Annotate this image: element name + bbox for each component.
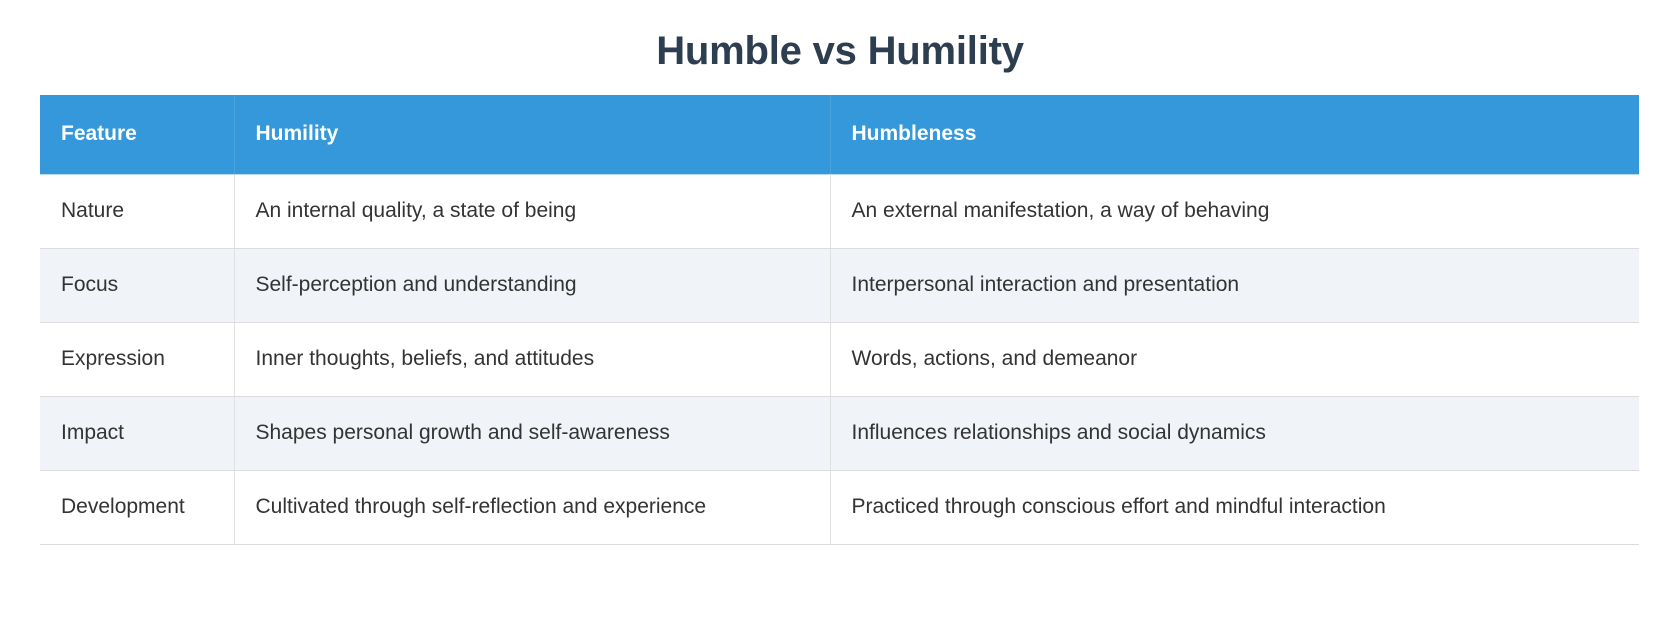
comparison-table: Feature Humility Humbleness Nature An in… — [40, 95, 1639, 545]
column-header-humility[interactable]: Humility — [234, 95, 830, 174]
cell-humbleness: Interpersonal interaction and presentati… — [830, 248, 1639, 322]
page-title: Humble vs Humility — [0, 0, 1680, 74]
cell-feature: Focus — [40, 248, 234, 322]
cell-humility: Shapes personal growth and self-awarenes… — [234, 396, 830, 470]
cell-humbleness: An external manifestation, a way of beha… — [830, 174, 1639, 248]
cell-feature: Development — [40, 470, 234, 544]
cell-feature: Expression — [40, 322, 234, 396]
cell-humility: Cultivated through self-reflection and e… — [234, 470, 830, 544]
page-root: Humble vs Humility Feature Humility Humb… — [0, 0, 1680, 626]
table-body: Nature An internal quality, a state of b… — [40, 174, 1639, 544]
cell-humility: An internal quality, a state of being — [234, 174, 830, 248]
table-row: Impact Shapes personal growth and self-a… — [40, 396, 1639, 470]
table-row: Nature An internal quality, a state of b… — [40, 174, 1639, 248]
cell-humbleness: Practiced through conscious effort and m… — [830, 470, 1639, 544]
column-header-feature[interactable]: Feature — [40, 95, 234, 174]
cell-humility: Inner thoughts, beliefs, and attitudes — [234, 322, 830, 396]
cell-humbleness: Words, actions, and demeanor — [830, 322, 1639, 396]
table-row: Expression Inner thoughts, beliefs, and … — [40, 322, 1639, 396]
comparison-table-container: Feature Humility Humbleness Nature An in… — [40, 95, 1639, 545]
table-row: Focus Self-perception and understanding … — [40, 248, 1639, 322]
cell-feature: Nature — [40, 174, 234, 248]
table-row: Development Cultivated through self-refl… — [40, 470, 1639, 544]
cell-humility: Self-perception and understanding — [234, 248, 830, 322]
cell-humbleness: Influences relationships and social dyna… — [830, 396, 1639, 470]
table-header-row: Feature Humility Humbleness — [40, 95, 1639, 174]
table-header: Feature Humility Humbleness — [40, 95, 1639, 174]
column-header-humbleness[interactable]: Humbleness — [830, 95, 1639, 174]
cell-feature: Impact — [40, 396, 234, 470]
